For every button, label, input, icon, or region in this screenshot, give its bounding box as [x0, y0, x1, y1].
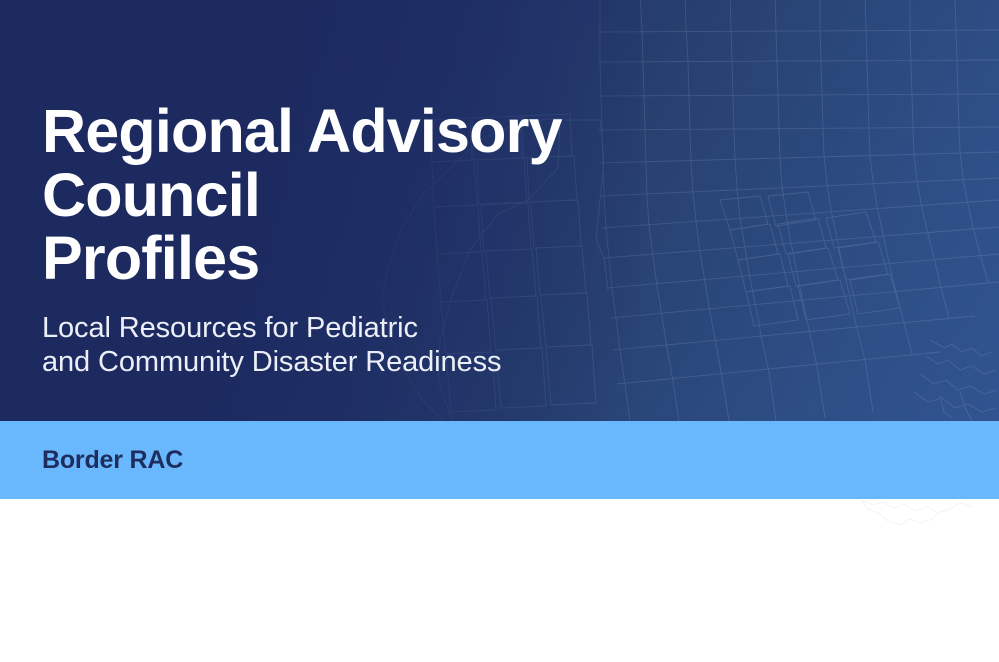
rac-banner: Border RAC [0, 421, 999, 499]
map-remnant-background [860, 499, 999, 535]
page-subtitle: Local Resources for Pediatric and Commun… [42, 291, 662, 379]
cover-header: Regional Advisory Council Profiles Local… [0, 0, 999, 421]
title-block: Regional Advisory Council Profiles Local… [42, 100, 662, 380]
report-cover-page: Regional Advisory Council Profiles Local… [0, 0, 999, 662]
rac-name-label: Border RAC [42, 446, 183, 475]
page-title: Regional Advisory Council Profiles [42, 100, 662, 291]
cover-footer: HEALTHCARE READY STRENGTHEN. SAFEGUARD. … [0, 499, 999, 662]
